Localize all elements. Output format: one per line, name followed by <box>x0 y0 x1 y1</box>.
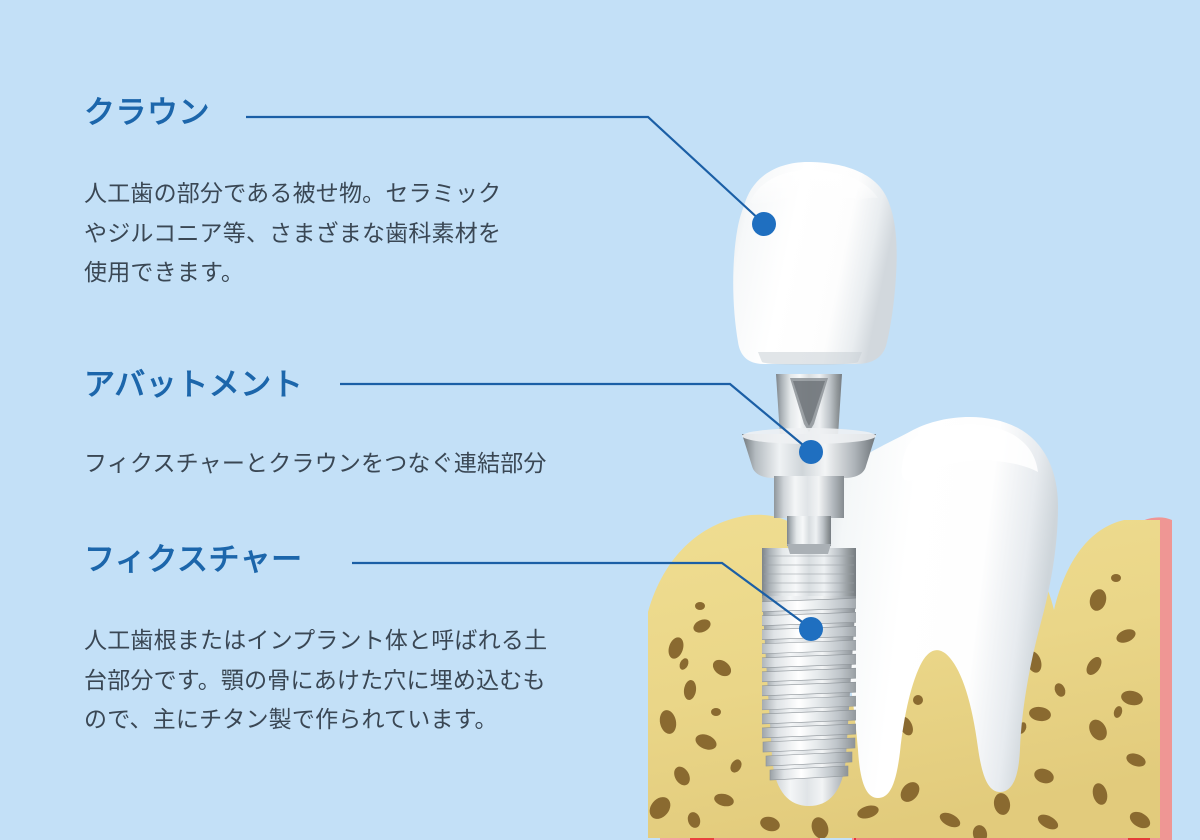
abutment-marker <box>799 440 823 464</box>
section-abutment: アバットメント フィクスチャーとクラウンをつなぐ連結部分 <box>84 368 547 484</box>
section-abutment-body: フィクスチャーとクラウンをつなぐ連結部分 <box>84 444 547 484</box>
crown-marker <box>752 212 776 236</box>
section-fixture-heading: フィクスチャー <box>84 543 547 577</box>
fixture-marker <box>799 617 823 641</box>
section-fixture: フィクスチャー 人工歯根またはインプラント体と呼ばれる土 台部分です。顎の骨にあ… <box>84 543 547 740</box>
crown-tooth <box>733 162 896 365</box>
section-crown: クラウン 人工歯の部分である被せ物。セラミック やジルコニア等、さまざまな歯科素… <box>84 96 501 293</box>
section-fixture-body: 人工歯根またはインプラント体と呼ばれる土 台部分です。顎の骨にあけた穴に埋め込む… <box>84 621 547 740</box>
section-crown-heading: クラウン <box>84 96 501 130</box>
diagram-root: クラウン 人工歯の部分である被せ物。セラミック やジルコニア等、さまざまな歯科素… <box>0 0 1200 840</box>
section-crown-body: 人工歯の部分である被せ物。セラミック やジルコニア等、さまざまな歯科素材を 使用… <box>84 174 501 293</box>
section-abutment-heading: アバットメント <box>84 368 547 402</box>
